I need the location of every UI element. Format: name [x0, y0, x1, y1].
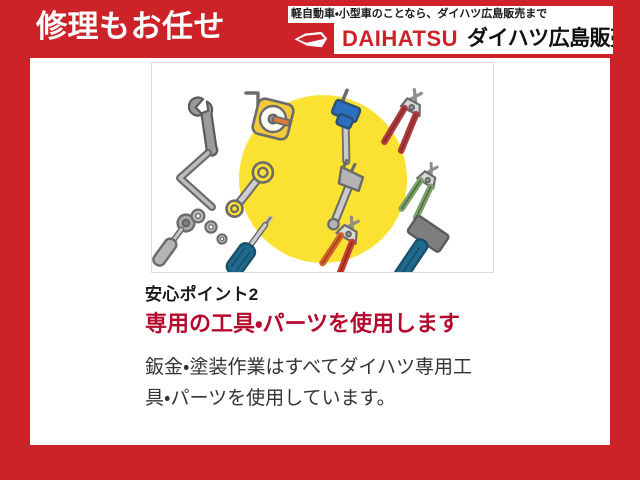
socket-wrench-icon	[152, 210, 227, 270]
header-band: 修理もお任せ 軽自動車・小型車のことなら、ダイハツ広島販売まで DAIHATSU…	[0, 0, 640, 58]
headline: 専用の工具・パーツを使用します	[145, 311, 495, 336]
daihatsu-d-mark-icon	[288, 23, 334, 54]
daihatsu-wordmark: DAIHATSU	[334, 23, 458, 54]
dealer-logo-lockup: 軽自動車・小型車のことなら、ダイハツ広島販売まで DAIHATSU ダイハツ広島…	[288, 6, 613, 54]
tools-illustration	[151, 62, 494, 273]
logo-tagline: 軽自動車・小型車のことなら、ダイハツ広島販売まで	[288, 6, 613, 23]
body-text: 鈑金・塗装作業はすべてダイハツ専用工具・パーツを使用しています。	[145, 352, 487, 414]
slide-root: 修理もお任せ 軽自動車・小型車のことなら、ダイハツ広島販売まで DAIHATSU…	[0, 0, 640, 480]
text-block: 安心ポイント2 専用の工具・パーツを使用します 鈑金・塗装作業はすべてダイハツ専…	[145, 283, 535, 414]
hex-key-icon	[180, 153, 212, 207]
content-card: 安心ポイント2 専用の工具・パーツを使用します 鈑金・塗装作業はすべてダイハツ専…	[30, 58, 610, 445]
open-end-wrench-icon	[172, 94, 237, 158]
logo-bar: DAIHATSU ダイハツ広島販売	[288, 23, 613, 54]
point-label: 安心ポイント2	[145, 283, 535, 307]
dealer-name: ダイハツ広島販売	[458, 23, 613, 54]
page-title: 修理もお任せ	[36, 7, 225, 47]
